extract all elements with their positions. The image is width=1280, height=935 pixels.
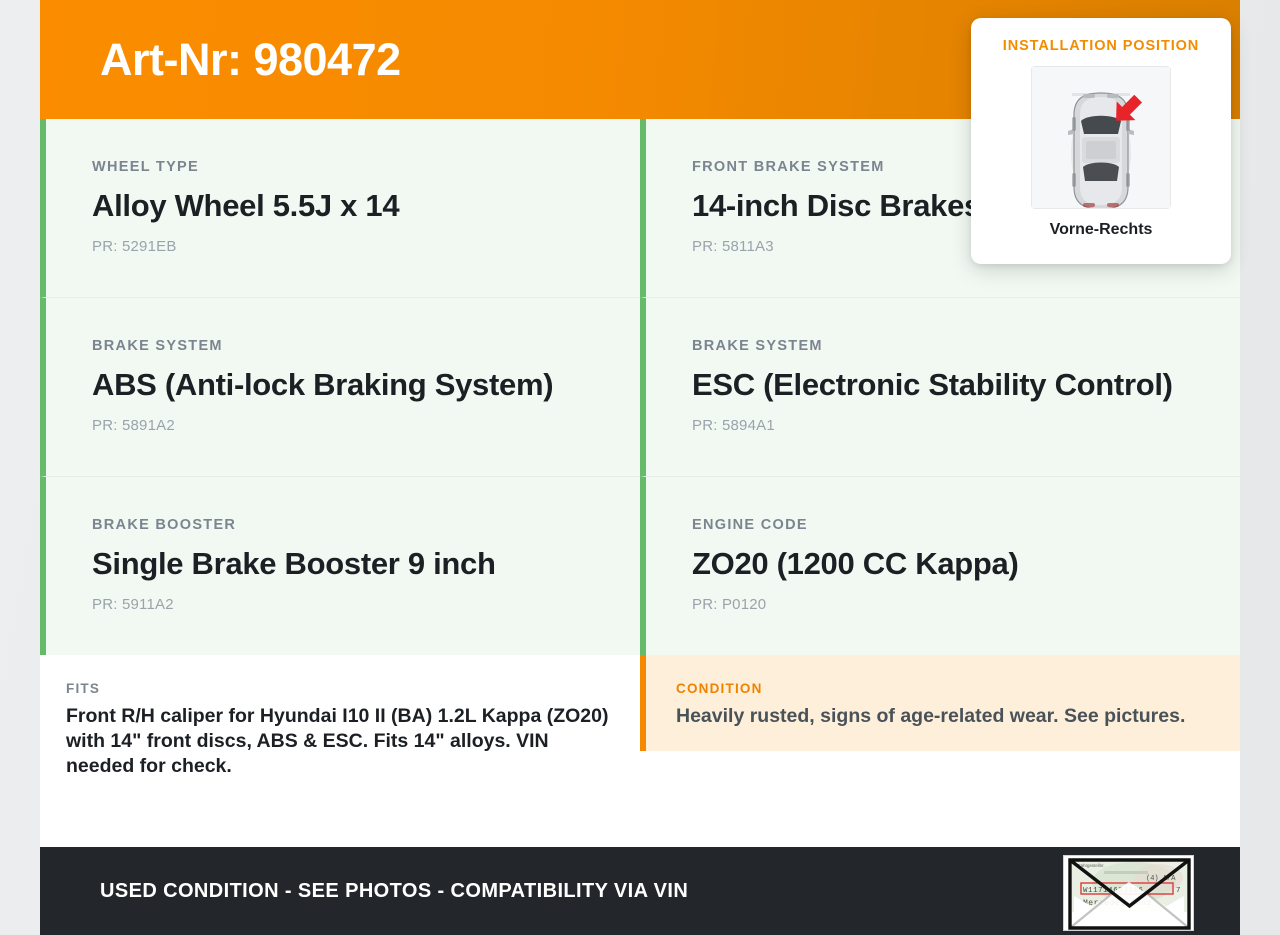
fits-text: Front R/H caliper for Hyundai I10 II (BA… xyxy=(66,704,610,778)
spec-cell-wheel-type: WHEEL TYPE Alloy Wheel 5.5J x 14 PR: 529… xyxy=(40,119,640,298)
spec-value: ESC (Electronic Stability Control) xyxy=(692,364,1194,407)
spec-value: Single Brake Booster 9 inch xyxy=(92,543,594,586)
spec-label: BRAKE BOOSTER xyxy=(92,517,594,533)
spec-pr-code: PR: P0120 xyxy=(692,596,1194,613)
footer-text: USED CONDITION - SEE PHOTOS - COMPATIBIL… xyxy=(100,880,688,903)
spec-cell-brake-system-abs: BRAKE SYSTEM ABS (Anti-lock Braking Syst… xyxy=(40,298,640,477)
footer-bar: USED CONDITION - SEE PHOTOS - COMPATIBIL… xyxy=(40,847,1240,935)
condition-label: CONDITION xyxy=(676,681,1210,696)
spec-cell-engine-code: ENGINE CODE ZO20 (1200 CC Kappa) PR: P01… xyxy=(640,477,1240,655)
envelope-over-vehicle-registration-document-icon: Fahrgestellnr. (4) A/A W1171463J316 7 Me… xyxy=(1063,855,1194,931)
installation-position-card[interactable]: INSTALLATION POSITION xyxy=(971,18,1231,264)
car-top-view-with-arrow-icon xyxy=(1031,66,1171,209)
spec-label: ENGINE CODE xyxy=(692,517,1194,533)
fits-label: FITS xyxy=(66,681,610,696)
spec-cell-brake-booster: BRAKE BOOSTER Single Brake Booster 9 inc… xyxy=(40,477,640,655)
spec-value: Alloy Wheel 5.5J x 14 xyxy=(92,185,594,228)
spec-cell-brake-system-esc: BRAKE SYSTEM ESC (Electronic Stability C… xyxy=(640,298,1240,477)
page-title: Art-Nr: 980472 xyxy=(100,37,401,82)
spec-pr-code: PR: 5891A2 xyxy=(92,417,594,434)
installation-position-title: INSTALLATION POSITION xyxy=(971,38,1231,54)
spec-label: BRAKE SYSTEM xyxy=(92,338,594,354)
condition-panel: CONDITION Heavily rusted, signs of age-r… xyxy=(640,655,1240,751)
installation-position-caption: Vorne-Rechts xyxy=(971,221,1231,239)
spec-label: WHEEL TYPE xyxy=(92,159,594,175)
condition-text: Heavily rusted, signs of age-related wea… xyxy=(676,704,1210,729)
notes-section: FITS Front R/H caliper for Hyundai I10 I… xyxy=(40,655,1240,800)
spec-pr-code: PR: 5894A1 xyxy=(692,417,1194,434)
fits-panel: FITS Front R/H caliper for Hyundai I10 I… xyxy=(40,655,640,800)
spec-value: ZO20 (1200 CC Kappa) xyxy=(692,543,1194,586)
spec-pr-code: PR: 5291EB xyxy=(92,238,594,255)
spec-label: BRAKE SYSTEM xyxy=(692,338,1194,354)
spec-pr-code: PR: 5911A2 xyxy=(92,596,594,613)
spec-value: ABS (Anti-lock Braking System) xyxy=(92,364,594,407)
